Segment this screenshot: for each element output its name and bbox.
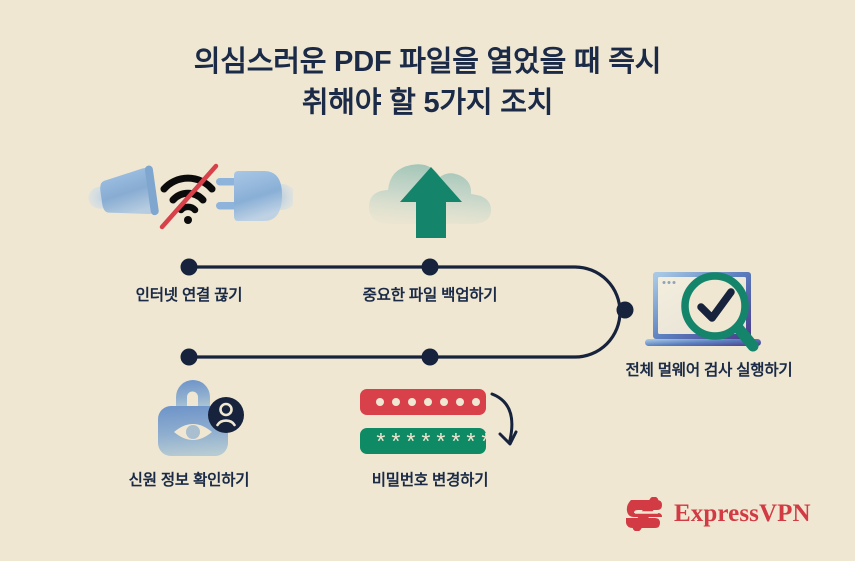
expressvpn-wordmark: ExpressVPN bbox=[674, 500, 811, 528]
page-title-line-2: 취해야 할 5가지 조치 bbox=[0, 83, 855, 124]
new-password-chars: ********* bbox=[374, 431, 509, 457]
timeline-path bbox=[189, 267, 620, 357]
step-label-backup: 중요한 파일 백업하기 bbox=[363, 283, 498, 305]
cloud-upload-icon bbox=[367, 150, 495, 245]
infographic-canvas: 의심스러운 PDF 파일을 열었을 때 즉시 취해야 할 5가지 조치 bbox=[0, 0, 855, 561]
padlock-eye-person-icon bbox=[150, 375, 246, 460]
timeline-node-backup bbox=[422, 259, 439, 276]
plug-body bbox=[216, 171, 293, 221]
step-label-identity: 신원 정보 확인하기 bbox=[129, 468, 250, 490]
timeline-node-disconnect bbox=[181, 259, 198, 276]
timeline-node-password bbox=[422, 349, 439, 366]
step-label-scan: 전체 멀웨어 검사 실행하기 bbox=[626, 358, 793, 380]
person-badge-icon bbox=[208, 397, 244, 433]
expressvpn-e-logo bbox=[624, 497, 664, 531]
password-change-icon: ********* bbox=[358, 388, 523, 458]
unplugged-wifi-icon bbox=[88, 155, 293, 240]
timeline-node-scan bbox=[617, 302, 634, 319]
timeline-node-identity bbox=[181, 349, 198, 366]
page-title: 의심스러운 PDF 파일을 열었을 때 즉시 취해야 할 5가지 조치 bbox=[0, 42, 855, 124]
page-title-line-1: 의심스러운 PDF 파일을 열었을 때 즉시 bbox=[0, 42, 855, 83]
wifi-symbol bbox=[162, 166, 216, 227]
socket-body bbox=[88, 165, 159, 224]
step-label-disconnect: 인터넷 연결 끊기 bbox=[136, 283, 243, 305]
laptop-scan-check-icon bbox=[645, 268, 765, 356]
step-label-password: 비밀번호 변경하기 bbox=[372, 468, 489, 490]
expressvpn-logo: ExpressVPN bbox=[624, 497, 811, 531]
